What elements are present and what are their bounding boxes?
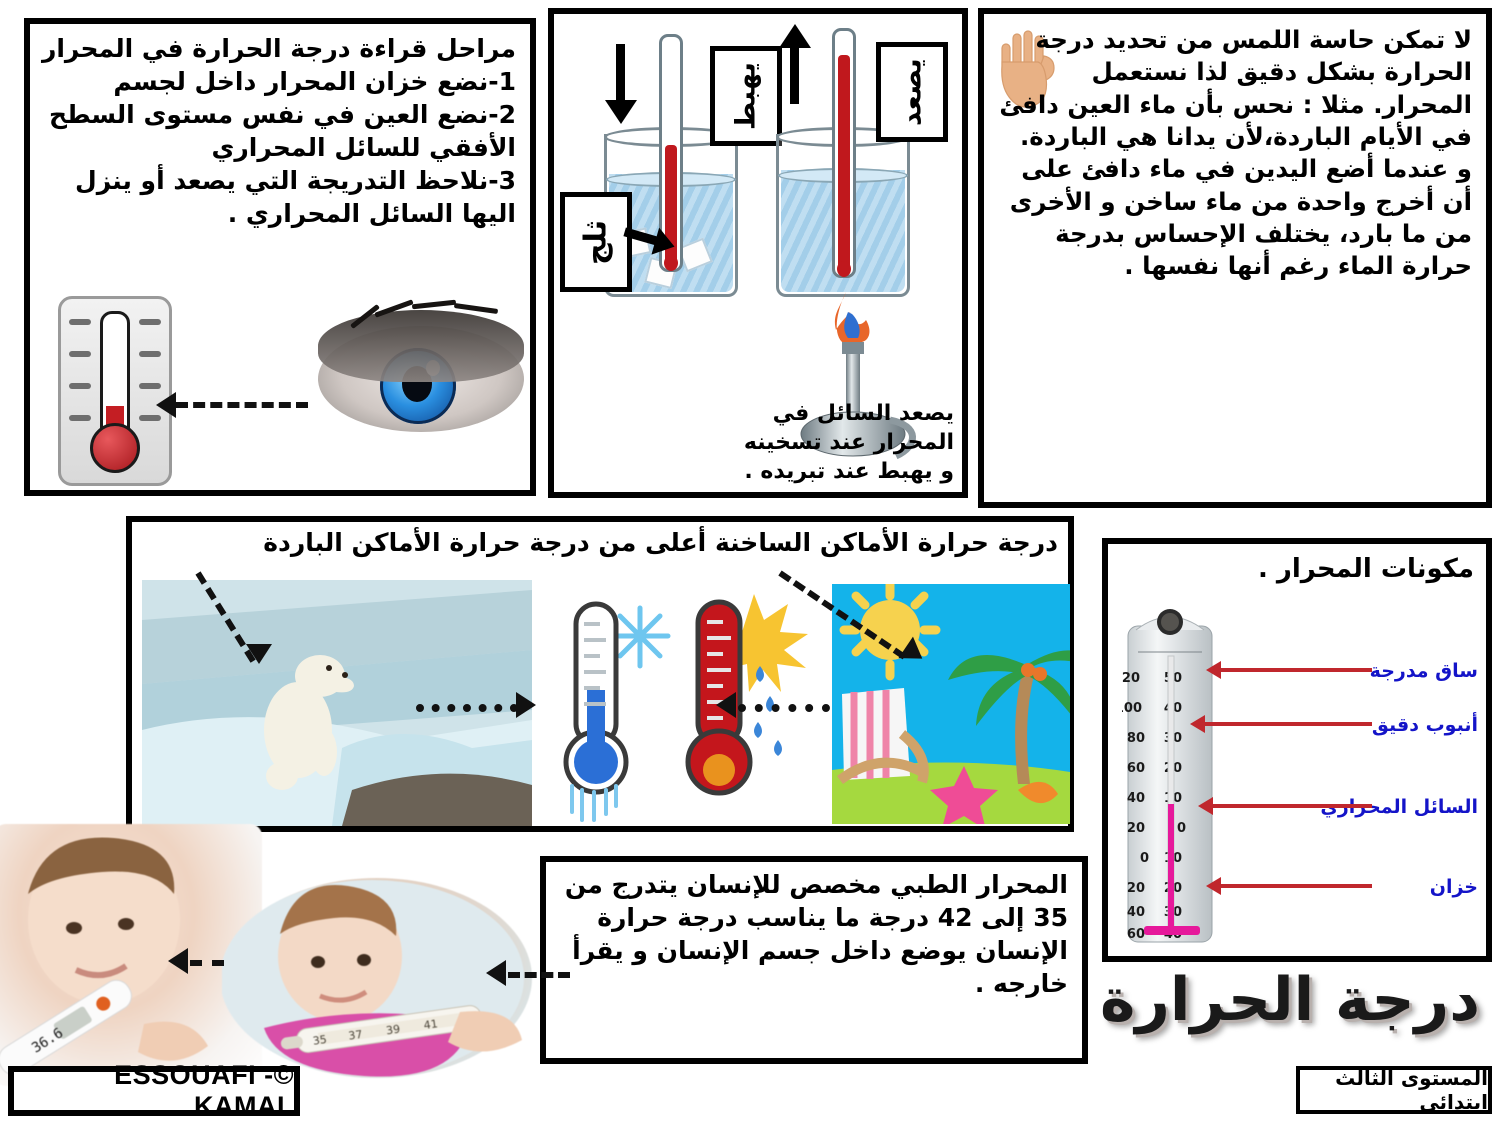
beakers-caption: يصعد السائل في المحرار عند تسخينه و يهبط… <box>739 399 954 486</box>
med-text-to-child2-arrow-icon <box>508 972 570 978</box>
pointer-head-liquid <box>1198 797 1213 815</box>
reading-step-3: 3-نلاحظ التدريجة التي يصعد أو ينزل اليها… <box>34 164 516 230</box>
svg-text:0: 0 <box>1177 821 1186 836</box>
touch-paragraph-1: لا تمكن حاسة اللمس من تحديد درجة الحرارة… <box>999 25 1472 151</box>
up-arrow-icon <box>790 46 799 104</box>
svg-text:37: 37 <box>348 1028 364 1043</box>
arctic-arrow-head-icon <box>246 644 272 664</box>
medical-thermometer-text: المحرار الطبي مخصص للإنسان يتدرج من 35 إ… <box>550 868 1068 1000</box>
svg-text:60: 60 <box>1127 761 1145 776</box>
svg-text:0: 0 <box>1140 851 1149 866</box>
level-text: المستوى الثالث ابتدائي <box>1300 1066 1488 1114</box>
svg-text:80: 80 <box>1127 731 1145 746</box>
med-arrow-head-2-icon <box>168 948 188 974</box>
credit-box: ©ESSOUAFI - KAMAL <box>8 1066 300 1116</box>
thermometer-icon <box>58 296 172 486</box>
med-arrow-head-1-icon <box>486 960 506 986</box>
places-caption: درجة حرارة الأماكن الساخنة أعلى من درجة … <box>138 526 1058 559</box>
reading-steps-title: مراحل قراءة درجة الحرارة في المحرار <box>34 32 516 65</box>
svg-text:100: 100 <box>1122 701 1142 716</box>
touch-sense-text: لا تمكن حاسة اللمس من تحديد درجة الحرارة… <box>988 24 1472 283</box>
parts-title: مكونات المحرار . <box>1114 552 1474 586</box>
cold-arrow-head-icon <box>516 692 536 718</box>
hot-arrow-head-icon <box>716 692 736 718</box>
page-title: درجة الحرارة <box>1090 965 1490 1055</box>
pointer-line-reservoir <box>1220 884 1372 888</box>
cold-to-thermometer-arrow-icon <box>416 704 518 712</box>
reading-steps-text: مراحل قراءة درجة الحرارة في المحرار 1-نض… <box>34 32 516 230</box>
pointer-head-reservoir <box>1206 877 1221 895</box>
eye-icon <box>318 304 524 454</box>
svg-text:40: 40 <box>1127 905 1145 920</box>
child2-to-child1-arrow-icon <box>190 960 224 966</box>
pointer-line-liquid <box>1212 804 1372 808</box>
dashed-arrow-head-icon <box>156 392 176 418</box>
hot-to-thermometer-arrow-icon <box>738 704 830 712</box>
svg-text:60: 60 <box>1127 927 1145 942</box>
svg-text:20: 20 <box>1127 881 1145 896</box>
credit-text: ©ESSOUAFI - KAMAL <box>14 1060 294 1122</box>
svg-text:41: 41 <box>423 1017 439 1032</box>
svg-text:35: 35 <box>312 1033 328 1048</box>
down-arrow-icon <box>616 44 625 102</box>
wall-thermometer-icon: 12010080 604020 0204060 504030 20100 102… <box>1122 608 1218 948</box>
svg-text:40: 40 <box>1127 791 1145 806</box>
dashed-arrow-left-icon <box>176 402 308 408</box>
pointer-head-tube <box>1190 715 1205 733</box>
polar-bear-on-ice-photo <box>142 580 532 826</box>
tropical-beach-illustration <box>832 584 1070 824</box>
medical-thermometer-panel: المحرار الطبي مخصص للإنسان يتدرج من 35 إ… <box>540 856 1088 1064</box>
label-ice: ثلج <box>560 192 632 292</box>
touch-sense-panel: لا تمكن حاسة اللمس من تحديد درجة الحرارة… <box>978 8 1492 508</box>
reading-step-2: 2-نضع العين في نفس مستوى السطح الأفقي لل… <box>34 98 516 164</box>
pointer-line-stem <box>1220 668 1372 672</box>
svg-text:20: 20 <box>1127 821 1145 836</box>
thermometer-eye-illustration <box>44 290 530 486</box>
beakers-experiment-panel: يهبط ثلج يصعد يصعد السائل في المحرار عند… <box>548 8 968 498</box>
svg-text:39: 39 <box>385 1023 401 1038</box>
reading-steps-panel: مراحل قراءة درجة الحرارة في المحرار 1-نض… <box>24 18 536 496</box>
touch-paragraph-2: و عندما أضع اليدين في ماء دافئ على أن أخ… <box>1010 154 1472 280</box>
hot-cold-places-panel: درجة حرارة الأماكن الساخنة أعلى من درجة … <box>126 516 1074 832</box>
thermometer-in-hot-water-icon <box>832 28 856 278</box>
level-box: المستوى الثالث ابتدائي <box>1296 1066 1492 1114</box>
pointer-head-stem <box>1206 661 1221 679</box>
pointer-line-tube <box>1204 722 1372 726</box>
reading-step-1: 1-نضع خزان المحرار داخل لجسم <box>34 65 516 98</box>
cold-thermometer-snowflake-icon <box>554 590 686 822</box>
svg-text:120: 120 <box>1122 671 1140 686</box>
thermometer-parts-panel: مكونات المحرار . 12010080 604020 0204060… <box>1102 538 1492 962</box>
label-rises: يصعد <box>876 42 948 142</box>
label-falls: يهبط <box>710 46 782 146</box>
